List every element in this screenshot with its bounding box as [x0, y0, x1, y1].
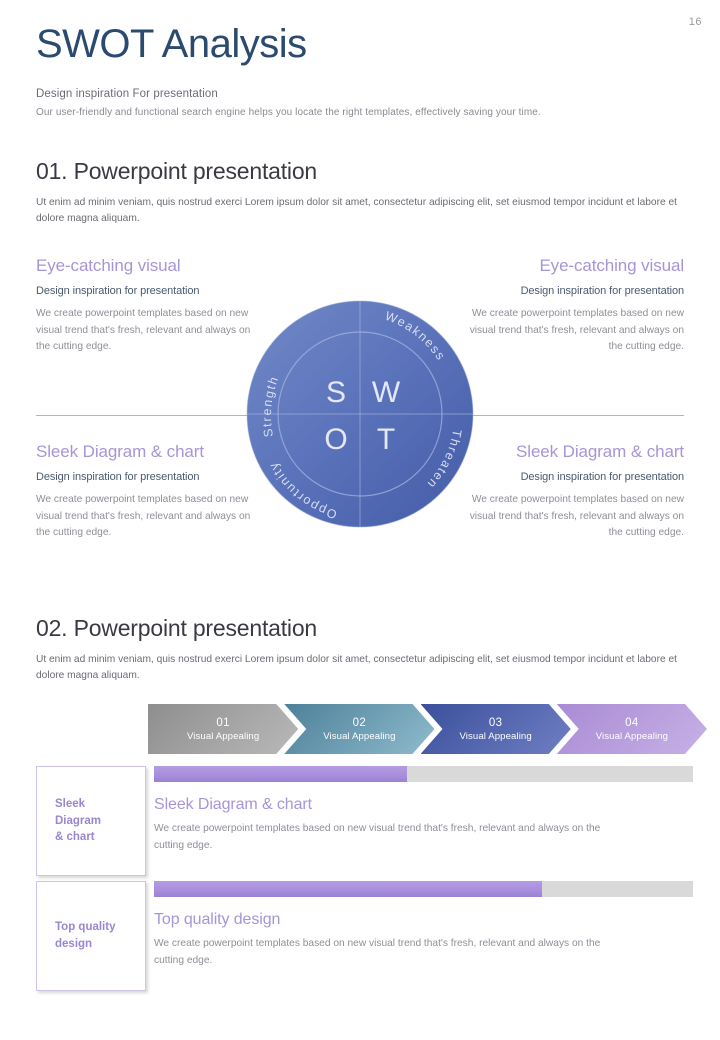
page-number: 16 [689, 16, 702, 28]
progress-fill [154, 766, 407, 782]
swot-quadrant-bottom-left: Sleek Diagram & chart Design inspiration… [36, 442, 251, 542]
step-label: Visual Appealing [187, 731, 259, 742]
badge-label: Sleek Diagram & chart [55, 796, 101, 846]
process-chevron-row: 01 Visual Appealing 02 Visual Appealing … [148, 704, 693, 754]
progress-fill [154, 881, 542, 897]
header-subtitle: Design inspiration For presentation [36, 88, 684, 100]
step-number: 03 [489, 717, 503, 729]
progress-card-1-body: We create powerpoint templates based on … [154, 821, 604, 854]
step-label: Visual Appealing [323, 731, 395, 742]
process-step-04[interactable]: 04 Visual Appealing [557, 704, 707, 754]
progress-track[interactable] [154, 766, 693, 782]
slide-header: SWOT Analysis Design inspiration For pre… [36, 22, 684, 118]
swot-circle-diagram[interactable]: S W O T Strength Weakness Opportunity Th… [240, 294, 480, 534]
progress-card-1-content: Sleek Diagram & chart We create powerpoi… [154, 766, 693, 854]
quadrant-subtitle: Design inspiration for presentation [36, 285, 251, 297]
progress-card-1-title: Sleek Diagram & chart [154, 796, 693, 814]
process-step-01[interactable]: 01 Visual Appealing [148, 704, 298, 754]
section-01-title: 01. Powerpoint presentation [36, 158, 684, 185]
section-02: 02. Powerpoint presentation Ut enim ad m… [36, 615, 684, 684]
step-label: Visual Appealing [459, 731, 531, 742]
quadrant-body: We create powerpoint templates based on … [36, 306, 251, 356]
circle-letter-s: S [326, 376, 346, 409]
quadrant-subtitle: Design inspiration for presentation [469, 285, 684, 297]
progress-card-1-badge[interactable]: Sleek Diagram & chart [36, 766, 146, 876]
progress-card-2-body: We create powerpoint templates based on … [154, 936, 604, 969]
swot-quadrant-bottom-right: Sleek Diagram & chart Design inspiration… [469, 442, 684, 542]
progress-card-2-title: Top quality design [154, 911, 693, 929]
quadrant-title: Sleek Diagram & chart [469, 442, 684, 462]
progress-track[interactable] [154, 881, 693, 897]
page-title: SWOT Analysis [36, 22, 684, 66]
section-02-title: 02. Powerpoint presentation [36, 615, 684, 642]
badge-label: Top quality design [55, 919, 115, 952]
quadrant-subtitle: Design inspiration for presentation [469, 471, 684, 483]
swot-quadrant-top-left: Eye-catching visual Design inspiration f… [36, 256, 251, 356]
swot-diagram-block: Eye-catching visual Design inspiration f… [36, 250, 684, 590]
step-number: 02 [353, 717, 367, 729]
quadrant-title: Sleek Diagram & chart [36, 442, 251, 462]
progress-card-2-content: Top quality design We create powerpoint … [154, 881, 693, 969]
step-label: Visual Appealing [596, 731, 668, 742]
process-step-03[interactable]: 03 Visual Appealing [421, 704, 571, 754]
circle-letter-t: T [377, 423, 395, 456]
quadrant-body: We create powerpoint templates based on … [469, 492, 684, 542]
quadrant-body: We create powerpoint templates based on … [469, 306, 684, 356]
quadrant-body: We create powerpoint templates based on … [36, 492, 251, 542]
circle-letter-w: W [372, 376, 401, 409]
circle-letter-o: O [324, 423, 347, 456]
step-number: 04 [625, 717, 639, 729]
quadrant-subtitle: Design inspiration for presentation [36, 471, 251, 483]
process-step-02[interactable]: 02 Visual Appealing [284, 704, 434, 754]
section-01-description: Ut enim ad minim veniam, quis nostrud ex… [36, 195, 684, 227]
quadrant-title: Eye-catching visual [469, 256, 684, 276]
swot-quadrant-top-right: Eye-catching visual Design inspiration f… [469, 256, 684, 356]
progress-card-1: Sleek Diagram & chart Sleek Diagram & ch… [36, 766, 693, 876]
quadrant-title: Eye-catching visual [36, 256, 251, 276]
progress-card-2-badge[interactable]: Top quality design [36, 881, 146, 991]
step-number: 01 [216, 717, 230, 729]
section-02-description: Ut enim ad minim veniam, quis nostrud ex… [36, 652, 684, 684]
header-description: Our user-friendly and functional search … [36, 107, 684, 118]
section-01: 01. Powerpoint presentation Ut enim ad m… [36, 158, 684, 227]
progress-card-2: Top quality design Top quality design We… [36, 881, 693, 991]
